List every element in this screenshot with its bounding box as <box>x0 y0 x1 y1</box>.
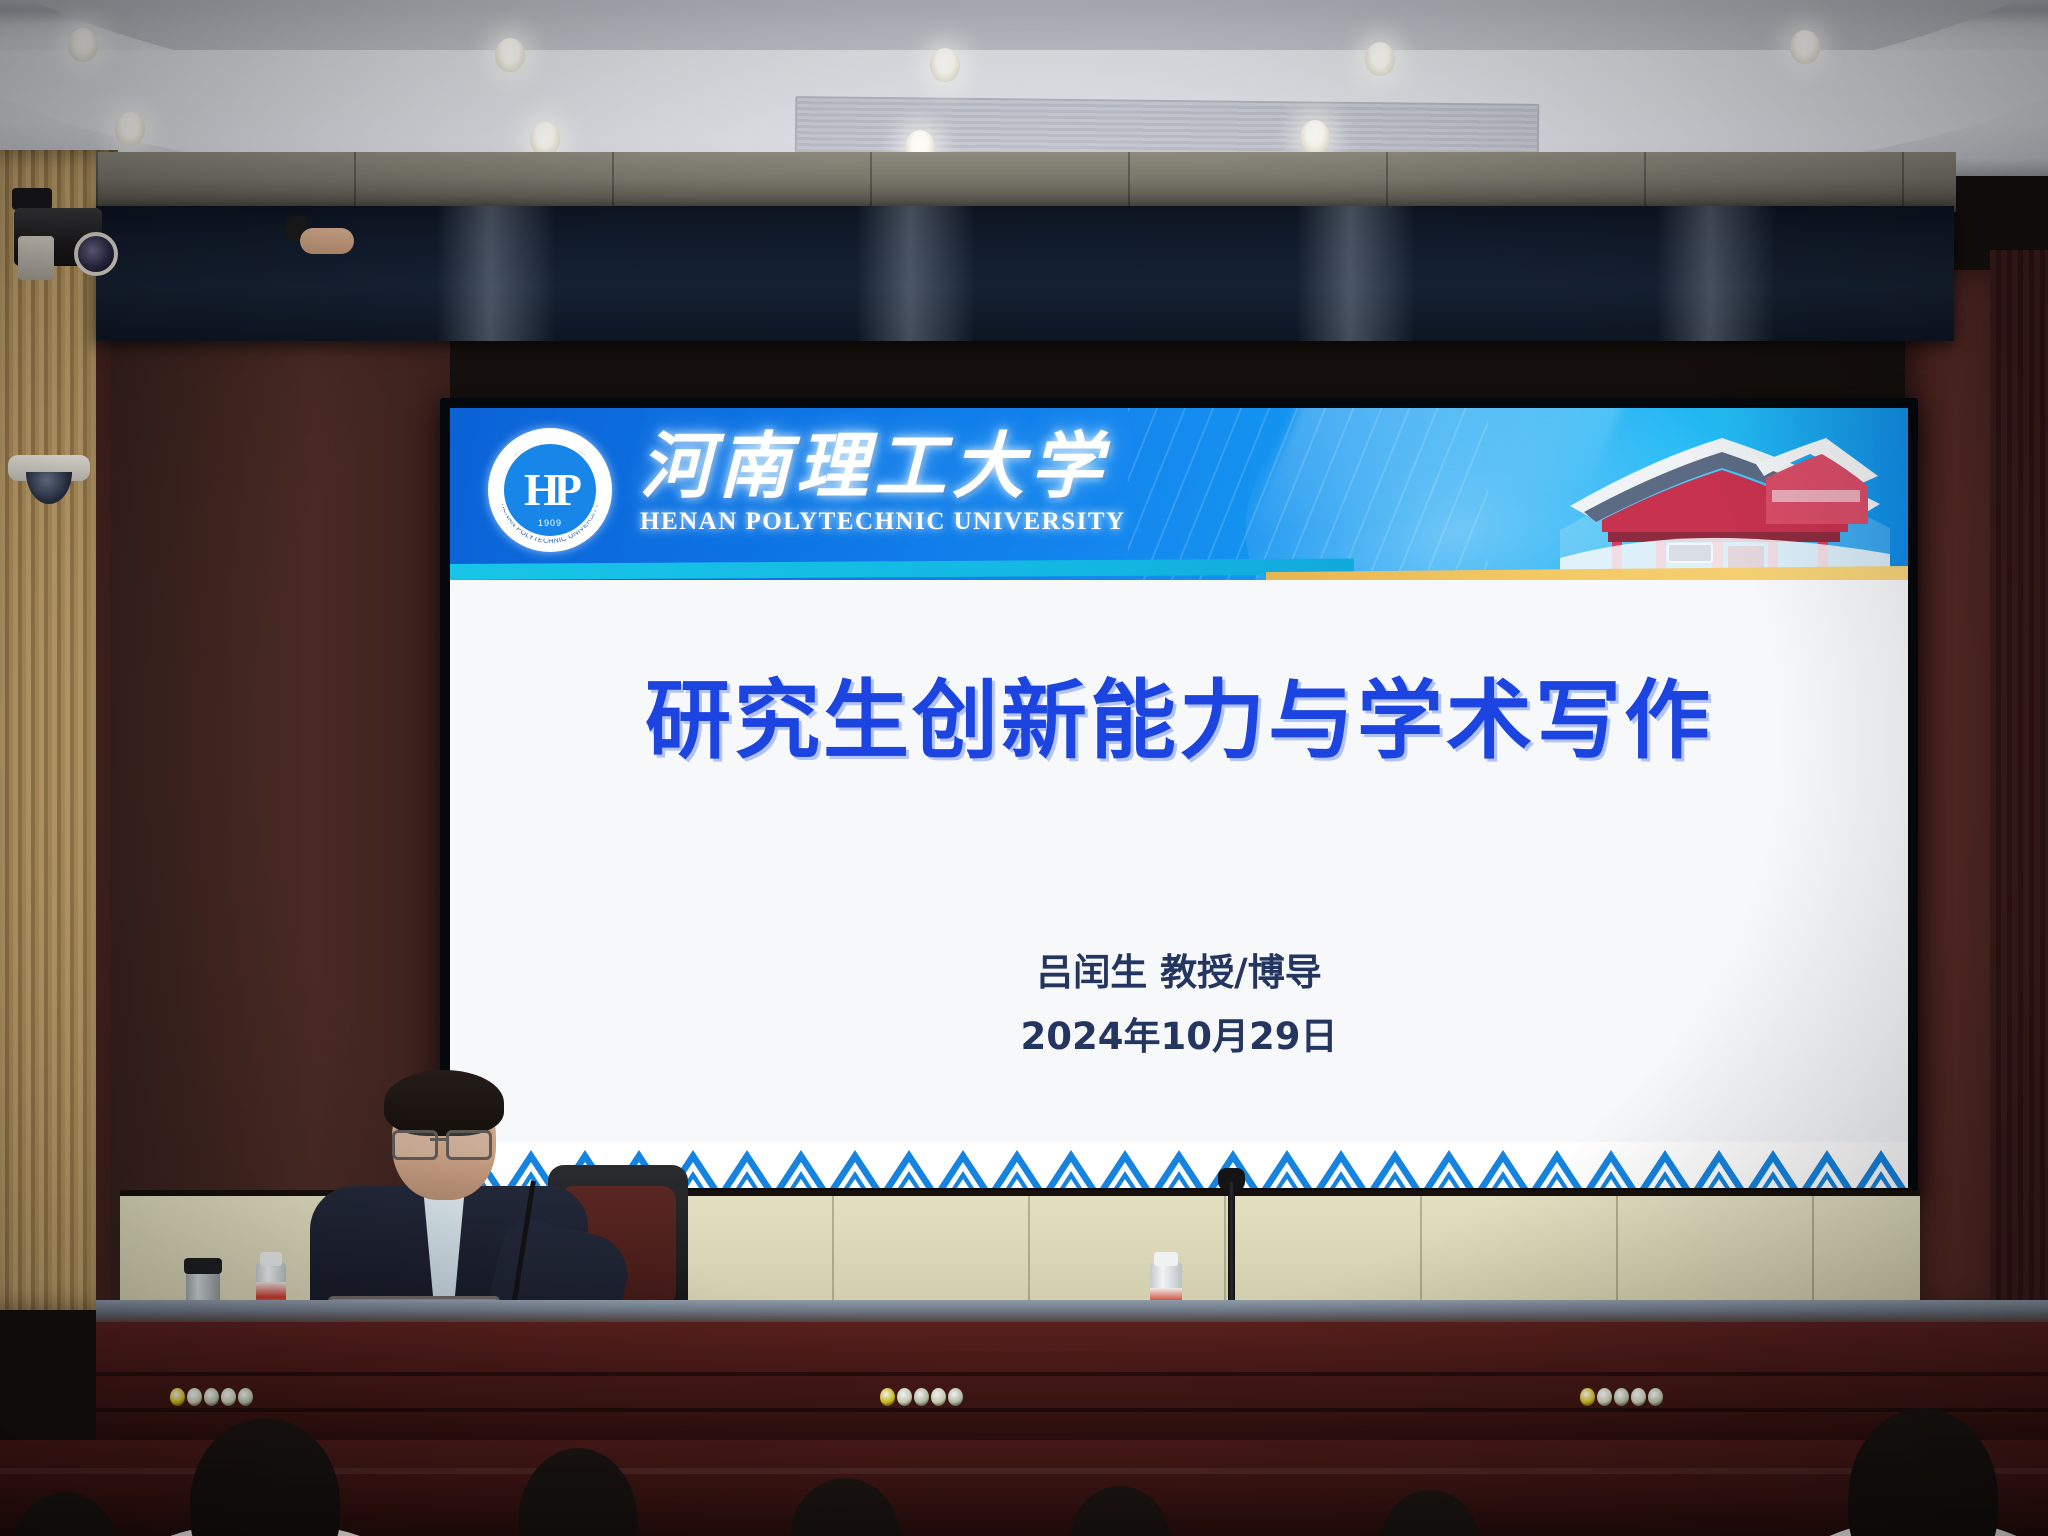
university-name-en: HENAN POLYTECHNIC UNIVERSITY <box>640 508 1126 536</box>
water-bottle-stage-cap <box>1154 1252 1178 1266</box>
desk-indicator-light-2-3 <box>914 1388 929 1406</box>
slide-title: 研究生创新能力与学术写作 <box>450 650 1908 775</box>
desk-indicator-light-2-2 <box>897 1388 912 1406</box>
water-bottle-left-cap <box>260 1252 282 1266</box>
eyeglasses-bridge-icon <box>430 1138 446 1141</box>
thermos-cap <box>184 1258 222 1274</box>
desk-indicator-light-3-1 <box>1580 1388 1595 1406</box>
downlight-icon-1 <box>68 28 98 62</box>
eyeglasses-right-icon <box>446 1130 492 1160</box>
seal-year: 1909 <box>504 518 596 528</box>
desk-indicator-light-1-5 <box>238 1388 253 1406</box>
downlight-icon-7 <box>530 122 560 156</box>
desk-indicator-light-2-4 <box>931 1388 946 1406</box>
desk-indicator-light-3-2 <box>1597 1388 1612 1406</box>
desk-indicator-light-3-4 <box>1631 1388 1646 1406</box>
downlight-icon-5 <box>1790 30 1820 64</box>
desk-indicator-light-3-3 <box>1614 1388 1629 1406</box>
slide-date: 2024年10月29日 <box>450 1006 1908 1060</box>
eyeglasses-left-icon <box>392 1130 438 1160</box>
camera-side-box <box>18 236 54 280</box>
presenter-hair <box>384 1070 504 1136</box>
downlight-icon-2 <box>495 38 525 72</box>
university-seal-logo: 河 南 理 工 大 学 HENAN POLYTECHNIC UNIVERSITY… <box>488 428 612 552</box>
downlight-icon-6 <box>115 112 145 146</box>
presenter-hand <box>300 228 354 254</box>
desk-indicator-light-1-2 <box>187 1388 202 1406</box>
camera-lens-icon <box>74 232 118 276</box>
valance-seams <box>96 152 1956 212</box>
university-name-cn: 河南理工大学 <box>640 430 1126 502</box>
wall-right-slat-panel <box>1990 250 2048 1310</box>
downlight-icon-4 <box>1365 42 1395 76</box>
chinese-pavilion-artwork <box>1560 420 1890 570</box>
dark-acoustic-band <box>96 206 1954 341</box>
desk-indicator-light-1-3 <box>204 1388 219 1406</box>
desk-indicator-light-1-4 <box>221 1388 236 1406</box>
slide-header-banner: 河 南 理 工 大 学 HENAN POLYTECHNIC UNIVERSITY… <box>450 408 1908 580</box>
downlight-icon-3 <box>930 48 960 82</box>
podium-desk-front <box>96 1322 2048 1442</box>
seated-presenter <box>300 1078 600 1328</box>
lecture-hall-photo: 河 南 理 工 大 学 HENAN POLYTECHNIC UNIVERSITY… <box>0 0 2048 1536</box>
university-name-block: 河南理工大学 HENAN POLYTECHNIC UNIVERSITY <box>640 430 1126 536</box>
downlight-icon-9 <box>1300 120 1330 154</box>
slide-presenter-name: 吕闰生 教授/博导 <box>450 942 1908 996</box>
desk-indicator-light-2-1 <box>880 1388 895 1406</box>
camera-mount-bracket <box>12 188 52 210</box>
desk-indicator-light-3-5 <box>1648 1388 1663 1406</box>
desk-indicator-light-1-1 <box>170 1388 185 1406</box>
banner-line-texture <box>1128 408 1488 580</box>
led-display-screen[interactable]: 河 南 理 工 大 学 HENAN POLYTECHNIC UNIVERSITY… <box>440 398 1918 1198</box>
seal-inner-disc: HP 1909 <box>501 441 599 539</box>
desk-indicator-light-2-5 <box>948 1388 963 1406</box>
presentation-slide: 河 南 理 工 大 学 HENAN POLYTECHNIC UNIVERSITY… <box>450 408 1908 1188</box>
seal-monogram: HP <box>524 467 576 513</box>
